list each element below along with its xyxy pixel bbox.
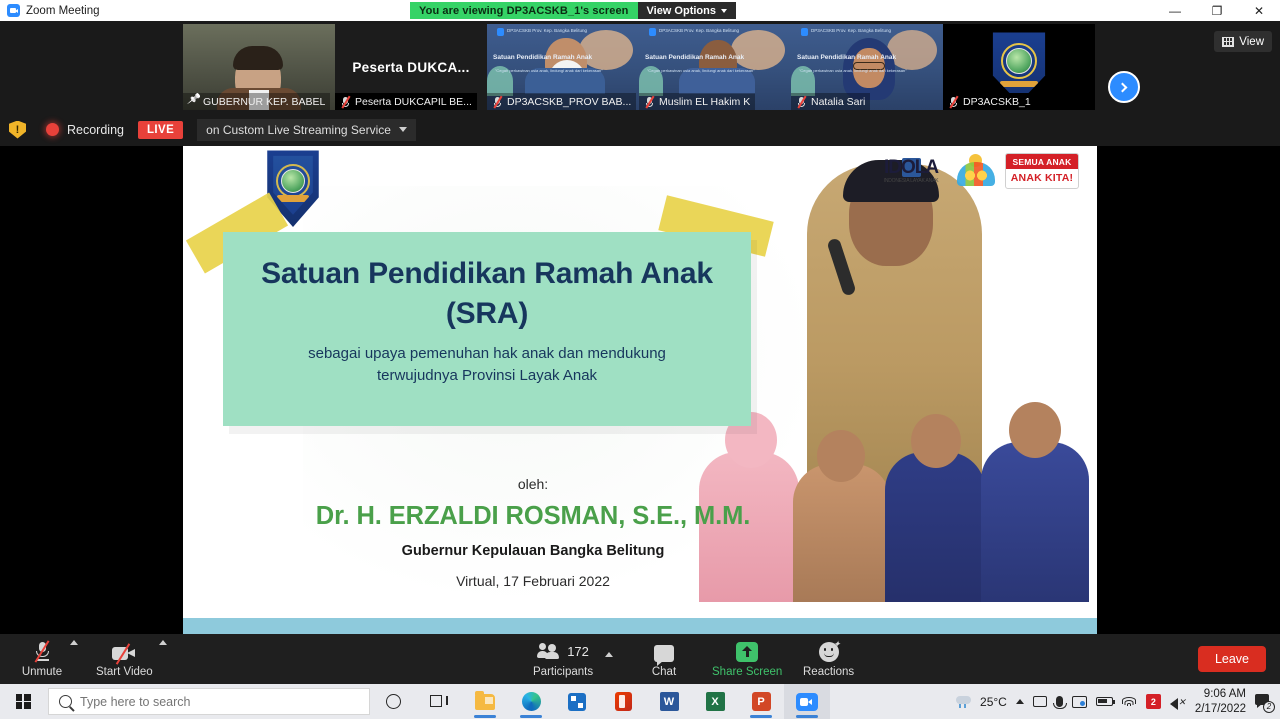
thumbnail-name-tag: DP3ACSKB_1 <box>943 93 1036 110</box>
chevron-right-icon <box>1118 82 1128 92</box>
file-explorer-button[interactable] <box>462 684 508 719</box>
task-view-button[interactable] <box>416 684 462 719</box>
live-streaming-service-dropdown[interactable]: on Custom Live Streaming Service <box>197 119 416 141</box>
microphone-icon <box>1056 696 1063 707</box>
microsoft-word-button[interactable]: W <box>646 684 692 719</box>
placeholder-name: Peserta DUKCA... <box>352 60 469 75</box>
view-layout-button[interactable]: View <box>1214 31 1272 52</box>
participant-name: Muslim EL Hakim K <box>659 96 750 108</box>
reactions-label: Reactions <box>803 666 854 678</box>
screen-share-banner: You are viewing DP3ACSKB_1's screen View… <box>410 2 736 19</box>
thumbnail-gubernur-kep-babel[interactable]: GUBERNUR KEP. BABEL <box>183 24 335 110</box>
microsoft-store-icon <box>568 693 586 711</box>
microsoft-store-button[interactable] <box>554 684 600 719</box>
tray-volume-button[interactable]: ✕ <box>1170 695 1186 708</box>
clock-date: 2/17/2022 <box>1195 702 1246 716</box>
cortana-button[interactable] <box>370 684 416 719</box>
tray-battery-button[interactable] <box>1096 697 1113 706</box>
badge-bottom-text: ANAK KITA! <box>1006 169 1078 187</box>
participant-name: DP3ACSKB_PROV BAB... <box>507 96 631 108</box>
microsoft-office-icon <box>615 692 632 711</box>
share-screen-label: Share Screen <box>712 666 782 678</box>
wifi-icon <box>1122 696 1137 708</box>
microsoft-edge-button[interactable] <box>508 684 554 719</box>
notification-count: 2 <box>1263 701 1275 713</box>
search-input[interactable] <box>80 695 359 709</box>
zoom-taskbar-button[interactable] <box>784 684 830 719</box>
microphone-muted-icon <box>340 96 351 108</box>
meeting-status-bar: Recording LIVE on Custom Live Streaming … <box>0 113 1280 146</box>
taskbar-search-box[interactable] <box>48 688 370 715</box>
titlebar-left: Zoom Meeting <box>0 4 100 17</box>
idola-logo-text: IDOLA <box>884 157 938 179</box>
camera-muted-icon <box>112 640 136 662</box>
zoom-app-icon <box>7 4 20 17</box>
close-icon: ✕ <box>1254 5 1264 17</box>
participant-name: Natalia Sari <box>811 96 865 108</box>
thumbnail-name-tag: Peserta DUKCAPIL BE... <box>335 93 477 110</box>
photo-child-2-head <box>817 430 865 482</box>
thumbnail-name-tag: GUBERNUR KEP. BABEL <box>183 93 330 110</box>
thumbnail-natalia-sari[interactable]: DP3ACSKB Prov. Kep. Bangka Belitung Satu… <box>791 24 943 110</box>
participant-filmstrip: GUBERNUR KEP. BABEL Peserta DUKCA... Pes… <box>0 21 1280 113</box>
live-service-label: on Custom Live Streaming Service <box>206 123 391 137</box>
thumbnail-list: GUBERNUR KEP. BABEL Peserta DUKCA... Pes… <box>183 21 1095 113</box>
zoom-toolbar: Unmute Start Video 172 Participants Chat <box>0 634 1280 684</box>
semua-anak-badge: SEMUA ANAK ANAK KITA! <box>1005 153 1079 189</box>
zoom-tray-badge: 2 <box>1146 694 1161 709</box>
microphone-muted-icon <box>34 640 51 662</box>
windows-taskbar: W X P 25°C <box>0 684 1280 719</box>
thumbnail-peserta-dukcapil[interactable]: Peserta DUKCA... Peserta DUKCAPIL BE... <box>335 24 487 110</box>
recording-label: Recording <box>67 123 124 137</box>
window-titlebar: Zoom Meeting You are viewing DP3ACSKB_1'… <box>0 0 1280 21</box>
slide-title-line2: (SRA) <box>446 294 528 334</box>
microsoft-edge-icon <box>522 692 541 711</box>
slide-title-line1: Satuan Pendidikan Ramah Anak <box>261 254 713 294</box>
microsoft-word-icon: W <box>660 692 679 711</box>
kota-layak-anak-logo-icon <box>955 152 997 190</box>
participants-button[interactable]: 172 Participants <box>527 634 599 684</box>
microphone-muted-icon <box>492 96 503 108</box>
unmute-button[interactable]: Unmute <box>14 634 70 684</box>
speaker-role: Gubernur Kepulauan Bangka Belitung <box>183 543 883 559</box>
file-explorer-icon <box>475 694 495 710</box>
weather-icon <box>956 694 974 709</box>
photo-child-3-head <box>911 414 961 468</box>
participants-label: Participants <box>533 666 593 678</box>
live-badge: LIVE <box>138 121 183 139</box>
audio-options-caret-icon[interactable] <box>70 640 78 645</box>
badge-top-text: SEMUA ANAK <box>1006 154 1078 169</box>
tray-camera-button[interactable] <box>1033 696 1047 707</box>
microsoft-excel-button[interactable]: X <box>692 684 738 719</box>
microphone-muted-icon <box>644 96 655 108</box>
slide-subtitle-line2: terwujudnya Provinsi Layak Anak <box>377 365 597 387</box>
slide-title-card: Satuan Pendidikan Ramah Anak (SRA) sebag… <box>223 232 751 426</box>
slide-byline: oleh: Dr. H. ERZALDI ROSMAN, S.E., M.M. … <box>183 476 883 589</box>
volume-muted-icon: ✕ <box>1170 695 1186 708</box>
search-icon <box>59 695 72 708</box>
notification-center-button[interactable]: 2 <box>1255 694 1272 710</box>
window-title: Zoom Meeting <box>26 5 100 17</box>
chat-icon <box>654 640 674 662</box>
show-hidden-icons-button[interactable] <box>1016 699 1024 704</box>
recording-indicator-icon[interactable] <box>46 123 59 136</box>
participant-name: GUBERNUR KEP. BABEL <box>203 96 325 108</box>
weather-widget[interactable]: 25°C <box>956 694 1007 709</box>
start-video-button[interactable]: Start Video <box>90 634 159 684</box>
shared-slide: IDOLA INDONESIA LAYAK ANAK SEMUA ANAK AN… <box>183 146 1097 634</box>
participant-name: DP3ACSKB_1 <box>963 96 1031 108</box>
microsoft-excel-icon: X <box>706 692 725 711</box>
viewing-screen-label: You are viewing DP3ACSKB_1's screen <box>410 2 638 19</box>
next-page-button[interactable] <box>1108 71 1140 103</box>
security-shield-icon[interactable] <box>9 121 26 139</box>
idola-logo-tagline: INDONESIA LAYAK ANAK <box>884 178 939 184</box>
tray-zoom-button[interactable]: 2 <box>1146 694 1161 709</box>
view-options-button[interactable]: View Options <box>638 2 736 19</box>
byline-prefix: oleh: <box>183 476 883 492</box>
minimize-icon: — <box>1169 5 1181 17</box>
slide-logo-cluster: IDOLA INDONESIA LAYAK ANAK SEMUA ANAK AN… <box>875 152 1079 190</box>
participants-count: 172 <box>567 644 589 659</box>
thumbnail-name-tag: Natalia Sari <box>791 93 870 110</box>
camera-icon <box>1033 696 1047 707</box>
start-button[interactable] <box>0 684 46 719</box>
taskbar-clock[interactable]: 9:06 AM 2/17/2022 <box>1195 687 1246 716</box>
thumbnail-dp3acskb-1[interactable]: DP3ACSKB_1 <box>943 24 1095 110</box>
participant-name: Peserta DUKCAPIL BE... <box>355 96 472 108</box>
unmute-label: Unmute <box>22 666 62 678</box>
start-video-label: Start Video <box>96 666 153 678</box>
cortana-icon <box>386 694 401 709</box>
leave-button[interactable]: Leave <box>1198 646 1266 672</box>
grid-view-icon <box>1222 37 1234 47</box>
thumbnail-name-tag: DP3ACSKB_PROV BAB... <box>487 93 636 110</box>
thumbnail-name-tag: Muslim EL Hakim K <box>639 93 755 110</box>
clock-time: 9:06 AM <box>1204 687 1246 701</box>
thumbnail-dp3acskb-prov-babel[interactable]: DP3ACSKB Prov. Kep. Bangka Belitung Satu… <box>487 24 639 110</box>
restore-icon: ❐ <box>1212 5 1223 17</box>
photo-child-4-head <box>1009 402 1061 458</box>
event-date: Virtual, 17 Februari 2022 <box>183 573 883 589</box>
participants-options-caret-icon[interactable] <box>605 652 613 657</box>
speaker-name: Dr. H. ERZALDI ROSMAN, S.E., M.M. <box>183 502 883 531</box>
participants-icon: 172 <box>537 640 589 662</box>
microsoft-powerpoint-icon: P <box>752 692 771 711</box>
slide-subtitle-line1: sebagai upaya pemenuhan hak anak dan men… <box>308 343 666 365</box>
microphone-muted-icon <box>948 96 959 108</box>
chevron-down-icon <box>399 127 407 132</box>
thumbnail-muslim-el-hakim-k[interactable]: DP3ACSKB Prov. Kep. Bangka Belitung Satu… <box>639 24 791 110</box>
microsoft-powerpoint-button[interactable]: P <box>738 684 784 719</box>
system-tray: 25°C 2 ✕ <box>956 687 1280 716</box>
battery-icon <box>1096 697 1113 706</box>
share-screen-icon <box>736 640 758 662</box>
slide-bottom-bar <box>183 618 1097 634</box>
chat-button[interactable]: Chat <box>636 634 692 684</box>
view-button-label: View <box>1239 36 1264 48</box>
windows-logo-icon <box>16 694 31 709</box>
window-controls: — ❐ ✕ <box>1154 0 1280 21</box>
idola-logo-icon: IDOLA INDONESIA LAYAK ANAK <box>875 154 947 188</box>
microphone-muted-icon <box>796 96 807 108</box>
pin-icon <box>188 96 199 108</box>
tray-microphone-button[interactable] <box>1056 696 1063 707</box>
tray-screen-share-button[interactable] <box>1072 696 1087 708</box>
maximize-button[interactable]: ❐ <box>1196 0 1238 21</box>
zoom-meeting-window: Zoom Meeting You are viewing DP3ACSKB_1'… <box>0 0 1280 719</box>
view-options-label: View Options <box>647 5 716 17</box>
task-view-icon <box>430 694 448 709</box>
tray-network-button[interactable] <box>1122 696 1137 708</box>
microsoft-office-button[interactable] <box>600 684 646 719</box>
screen-share-icon <box>1072 696 1087 708</box>
video-options-caret-icon[interactable] <box>159 640 167 645</box>
share-screen-button[interactable]: Share Screen <box>706 634 788 684</box>
reactions-icon: ✦ <box>819 640 839 662</box>
weather-temperature: 25°C <box>980 695 1007 709</box>
close-button[interactable]: ✕ <box>1238 0 1280 21</box>
reactions-button[interactable]: ✦ Reactions <box>797 634 860 684</box>
minimize-button[interactable]: — <box>1154 0 1196 21</box>
shared-screen-stage: IDOLA INDONESIA LAYAK ANAK SEMUA ANAK AN… <box>0 146 1280 634</box>
photo-child-4 <box>981 442 1089 602</box>
chat-label: Chat <box>652 666 676 678</box>
zoom-icon <box>796 693 818 711</box>
chevron-up-icon <box>1016 699 1024 704</box>
chevron-down-icon <box>721 9 727 13</box>
photo-child-3 <box>885 452 985 602</box>
